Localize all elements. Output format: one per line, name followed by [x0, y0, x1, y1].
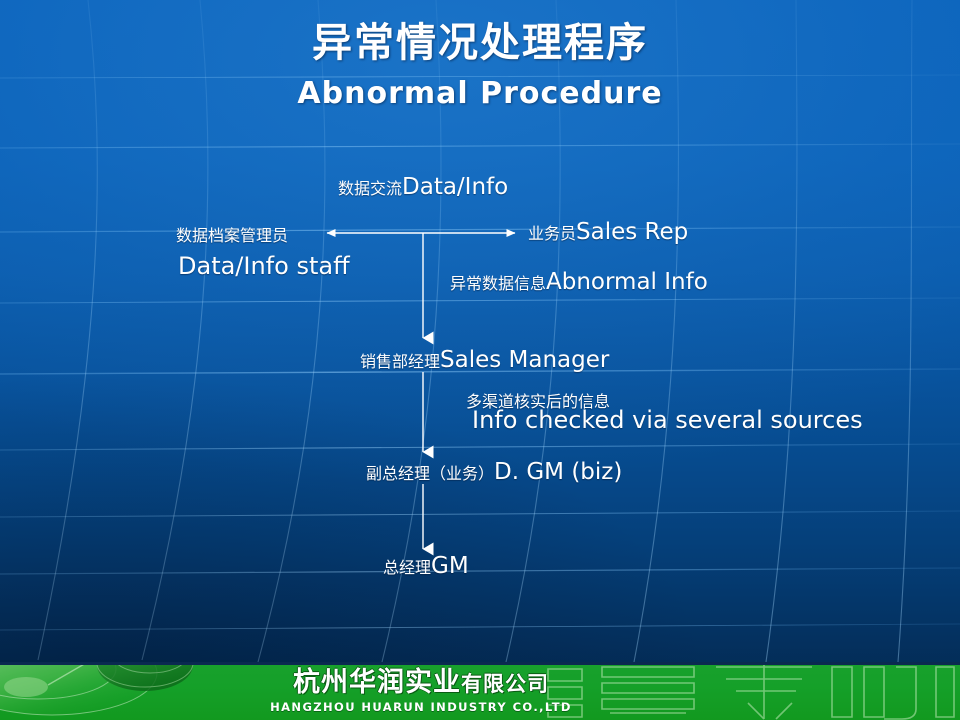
node-gm-en: GM: [431, 553, 469, 579]
node-sales-manager-en: Sales Manager: [440, 347, 609, 373]
node-sales-manager: 销售部经理 Sales Manager: [360, 347, 609, 373]
edge-label-data-info-en: Data/Info: [402, 174, 508, 200]
node-data-info-staff-zh: 数据档案管理员: [176, 222, 288, 246]
node-deputy-gm: 副总经理（业务） D. GM (biz): [366, 459, 622, 485]
edge-label-info-checked-en-text: Info checked via several sources: [472, 406, 863, 434]
node-sales-rep-en: Sales Rep: [576, 219, 688, 245]
node-data-info-staff-en: Data/Info staff: [178, 252, 350, 280]
company-name-chinese: 杭州华润实业有限公司: [186, 668, 656, 699]
edge-label-info-checked-en: Info checked via several sources: [472, 406, 863, 434]
edge-label-abnormal-info-en: Abnormal Info: [546, 269, 708, 295]
company-name-english: HANGZHOU HUARUN INDUSTRY CO.,LTD: [186, 700, 656, 714]
node-gm-zh: 总经理: [383, 554, 431, 578]
edge-label-data-info-zh: 数据交流: [338, 175, 402, 199]
company-logo: 杭州华润实业有限公司 HANGZHOU HUARUN INDUSTRY CO.,…: [186, 668, 656, 714]
node-sales-manager-zh: 销售部经理: [360, 348, 440, 372]
edge-label-abnormal-info: 异常数据信息 Abnormal Info: [450, 269, 708, 295]
node-data-info-staff-en-text: Data/Info staff: [178, 252, 350, 280]
company-name-main: 杭州华润实业: [293, 667, 461, 698]
slide-canvas: 异常情况处理程序 Abnormal Procedure sales rep --…: [0, 0, 960, 720]
node-deputy-gm-en: D. GM (biz): [494, 459, 622, 485]
node-sales-rep-zh: 业务员: [528, 220, 576, 244]
node-sales-rep: 业务员 Sales Rep: [528, 219, 688, 245]
company-banner: 杭州华润实业有限公司 HANGZHOU HUARUN INDUSTRY CO.,…: [0, 665, 960, 720]
node-deputy-gm-zh: 副总经理（业务）: [366, 460, 494, 484]
node-gm: 总经理 GM: [383, 553, 469, 579]
edge-label-data-info: 数据交流 Data/Info: [338, 174, 508, 200]
edge-label-abnormal-info-zh: 异常数据信息: [450, 270, 546, 294]
company-name-suffix: 有限公司: [461, 671, 549, 696]
